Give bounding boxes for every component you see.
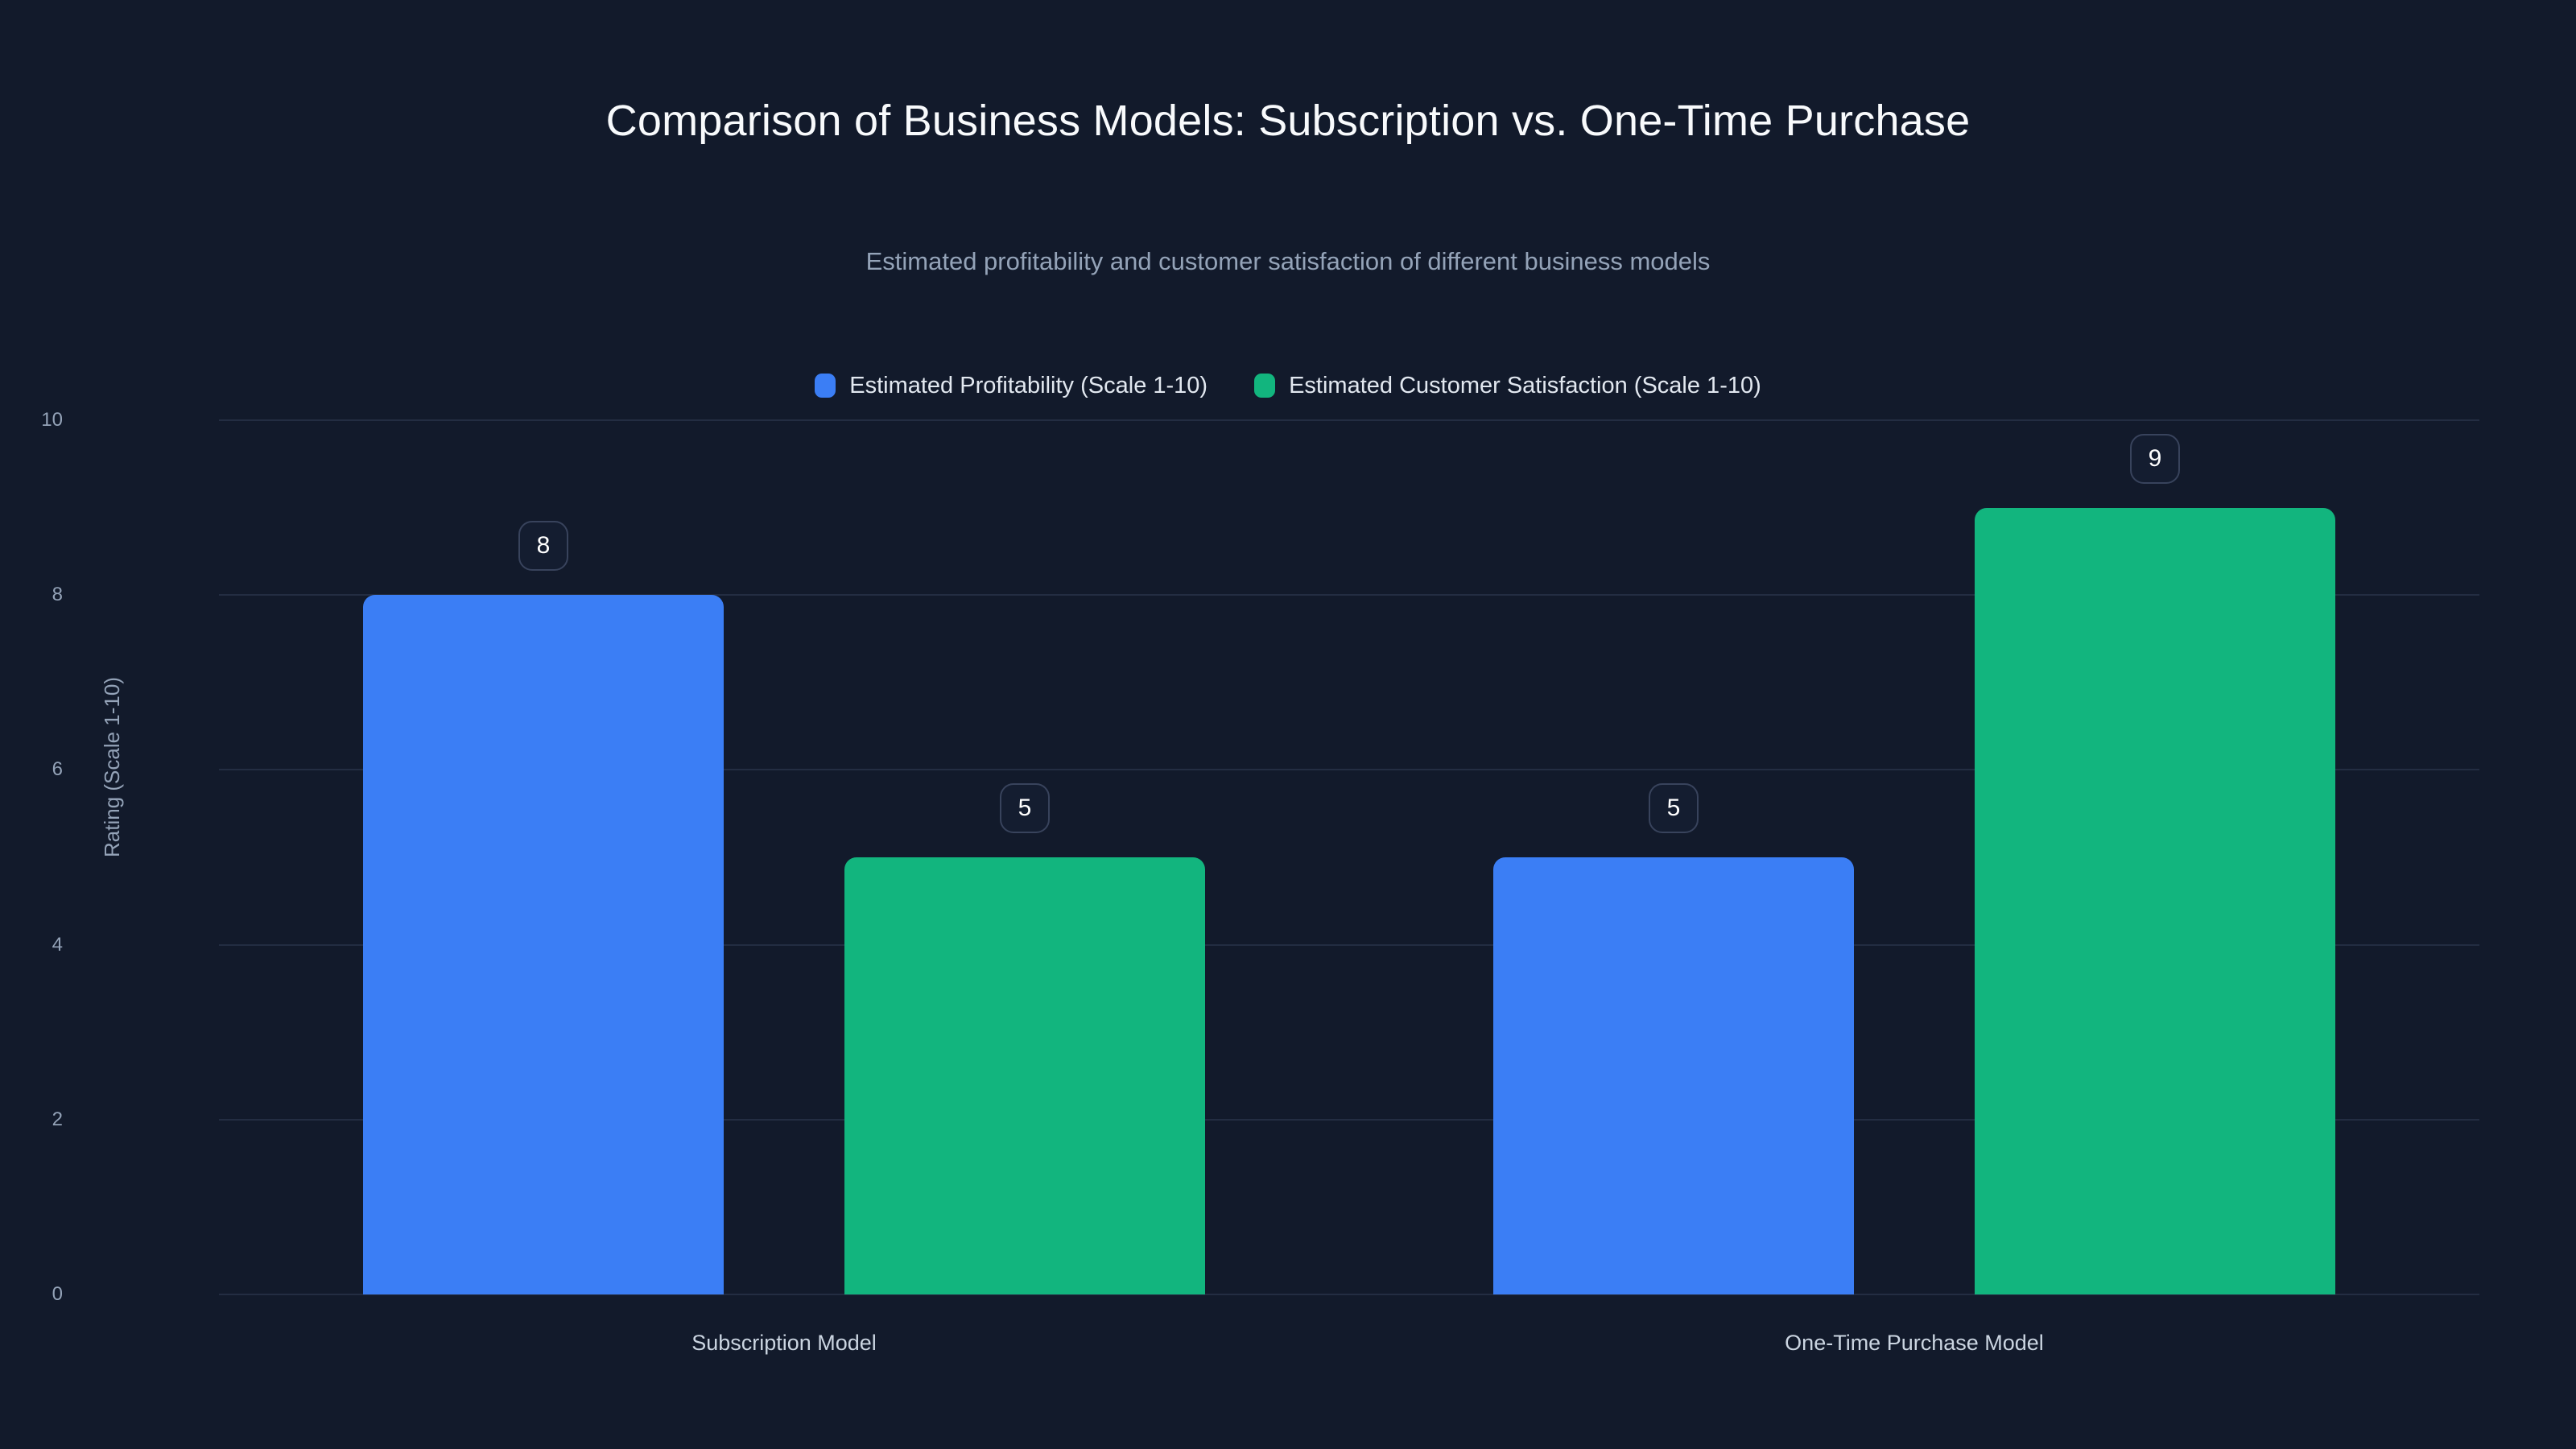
x-tick-label: Subscription Model (691, 1332, 877, 1354)
gridline (219, 419, 2479, 421)
y-tick-label: 0 (0, 1285, 63, 1304)
legend-swatch-icon-profitability (815, 374, 836, 398)
bar[interactable] (844, 857, 1205, 1294)
y-tick-label: 10 (0, 411, 63, 430)
bar[interactable] (1493, 857, 1854, 1294)
legend-swatch-icon-satisfaction (1254, 374, 1275, 398)
bar-value-label: 5 (1000, 783, 1050, 833)
page-title: Comparison of Business Models: Subscript… (0, 97, 2576, 145)
legend-label-profitability: Estimated Profitability (Scale 1-10) (849, 374, 1207, 398)
x-tick-label: One-Time Purchase Model (1785, 1332, 2044, 1354)
y-axis-title: Rating (Scale 1-10) (101, 677, 122, 857)
bar-value-label: 9 (2130, 434, 2180, 484)
bar[interactable] (363, 595, 724, 1294)
bar-value-label: 8 (518, 521, 568, 571)
legend-item-profitability[interactable]: Estimated Profitability (Scale 1-10) (815, 374, 1207, 398)
legend-item-satisfaction[interactable]: Estimated Customer Satisfaction (Scale 1… (1254, 374, 1761, 398)
y-tick-label: 4 (0, 935, 63, 955)
bar-value-label: 5 (1649, 783, 1699, 833)
legend-label-satisfaction: Estimated Customer Satisfaction (Scale 1… (1289, 374, 1761, 398)
chart-legend: Estimated Profitability (Scale 1-10) Est… (0, 374, 2576, 398)
bar[interactable] (1975, 508, 2335, 1294)
chart-subtitle: Estimated profitability and customer sat… (0, 246, 2576, 276)
chart-canvas: Comparison of Business Models: Subscript… (0, 0, 2576, 1449)
y-tick-label: 2 (0, 1110, 63, 1129)
y-tick-label: 6 (0, 760, 63, 779)
y-tick-label: 8 (0, 585, 63, 605)
